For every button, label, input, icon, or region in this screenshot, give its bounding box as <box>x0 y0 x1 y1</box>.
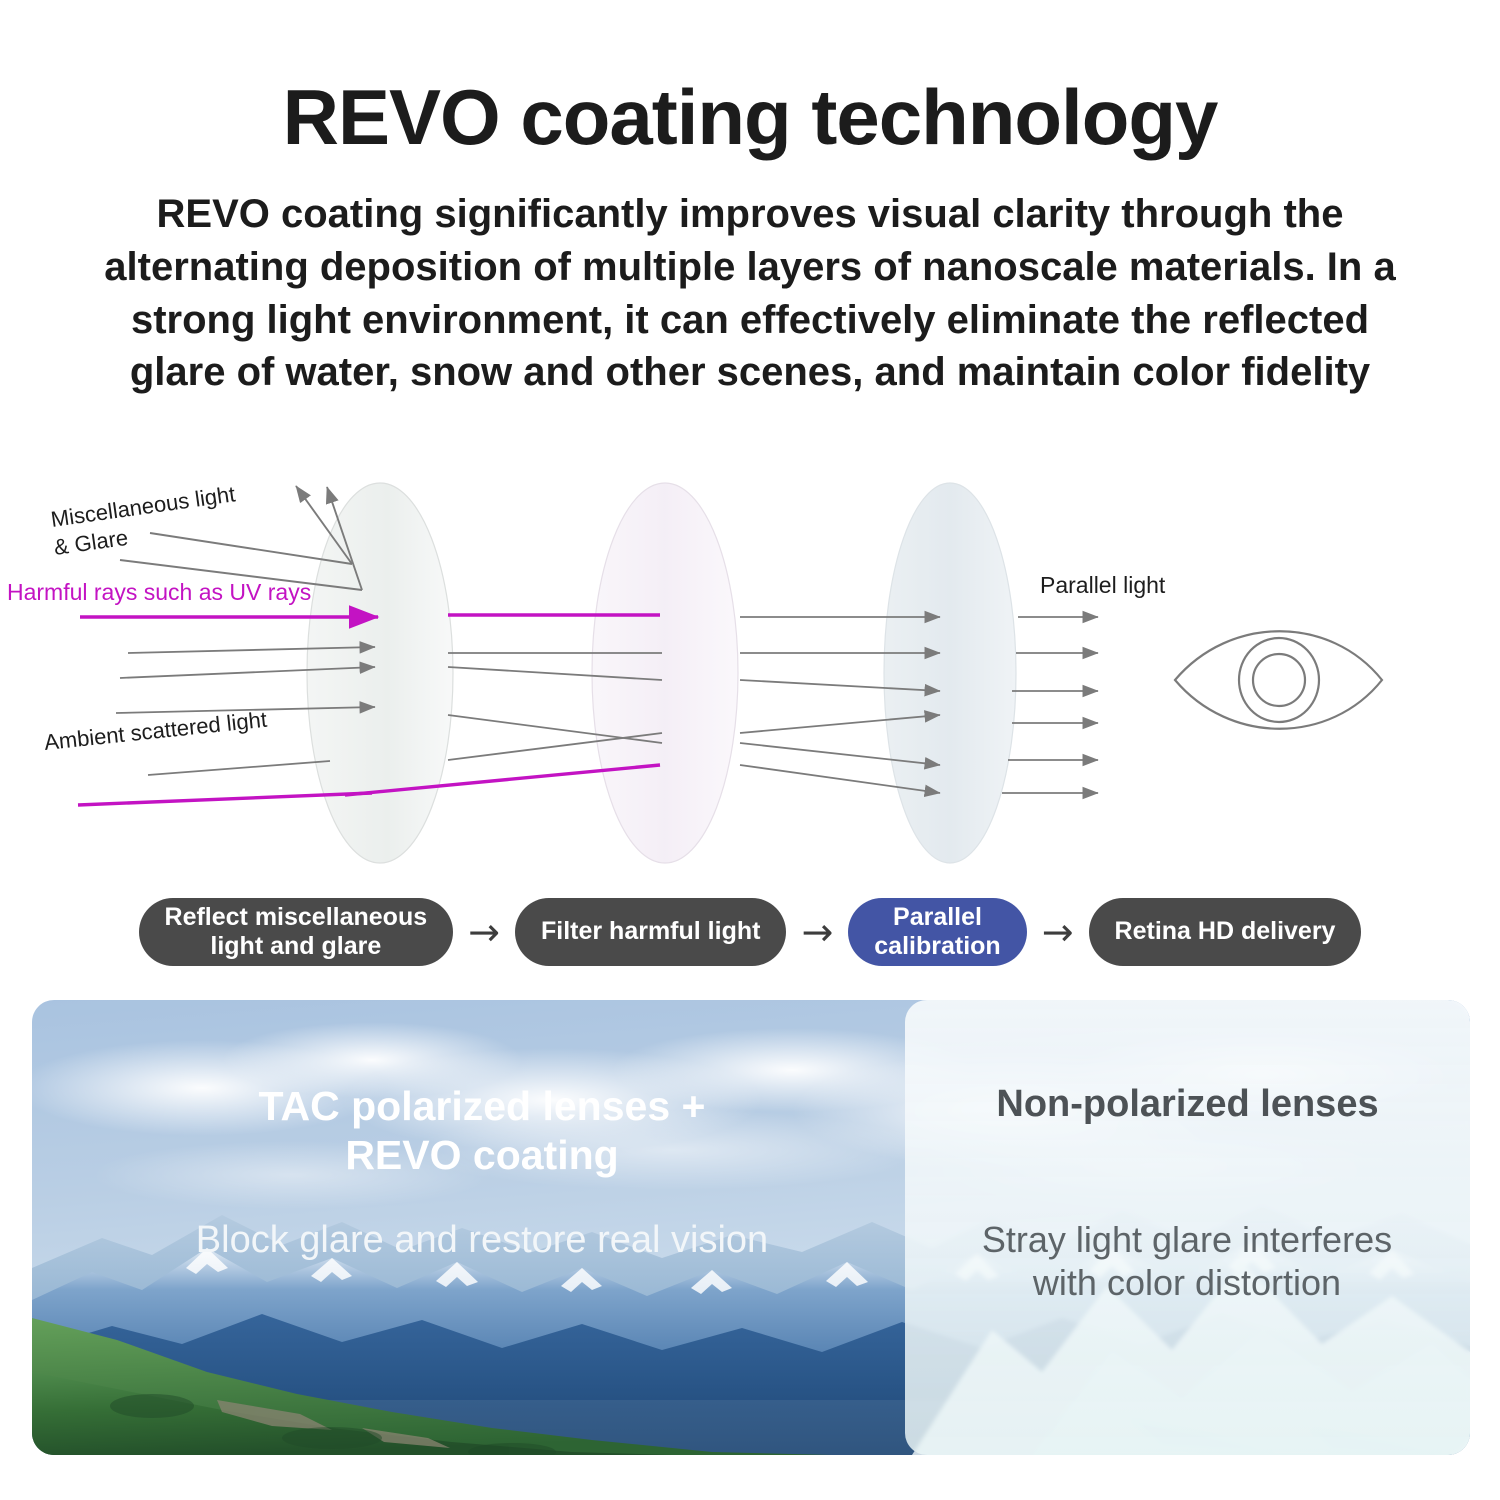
ray-ambient-4 <box>148 761 330 775</box>
ray-incoming-glare-1 <box>150 533 352 564</box>
flow-arrow-icon: → <box>786 913 848 951</box>
label-harmful-rays: Harmful rays such as UV rays <box>7 579 311 605</box>
process-step-filter[interactable]: Filter harmful light <box>515 898 786 966</box>
lens-outer <box>307 483 453 863</box>
process-flow: Reflect miscellaneous light and glare → … <box>0 896 1500 968</box>
flow-arrow-icon: → <box>1027 913 1089 951</box>
process-step-retina[interactable]: Retina HD delivery <box>1089 898 1362 966</box>
page-title: REVO coating technology <box>0 0 1500 156</box>
process-step-calibration[interactable]: Parallel calibration <box>848 898 1026 966</box>
left-panel-title: TAC polarized lenses + REVO coating <box>62 1082 902 1180</box>
lens-comparison-panel: TAC polarized lenses + REVO coating Bloc… <box>32 1000 1470 1455</box>
process-step-reflect[interactable]: Reflect miscellaneous light and glare <box>139 898 454 966</box>
left-panel-subtitle: Block glare and restore real vision <box>52 1218 912 1264</box>
page-description: REVO coating significantly improves visu… <box>95 188 1405 399</box>
optical-path-diagram: Miscellaneous light & Glare Harmful rays… <box>0 475 1500 880</box>
eye-icon <box>1175 631 1382 729</box>
right-panel-title: Non-polarized lenses <box>905 1082 1470 1128</box>
label-miscellaneous-light: Miscellaneous light <box>49 481 237 532</box>
lens-inner <box>884 483 1016 863</box>
flow-arrow-icon: → <box>453 913 515 951</box>
label-ambient-light: Ambient scattered light <box>43 707 268 755</box>
lens-middle <box>592 483 738 863</box>
right-panel-subtitle: Stray light glare interferes with color … <box>887 1218 1470 1304</box>
label-parallel-light: Parallel light <box>1040 572 1166 598</box>
lens-group <box>307 483 1016 863</box>
